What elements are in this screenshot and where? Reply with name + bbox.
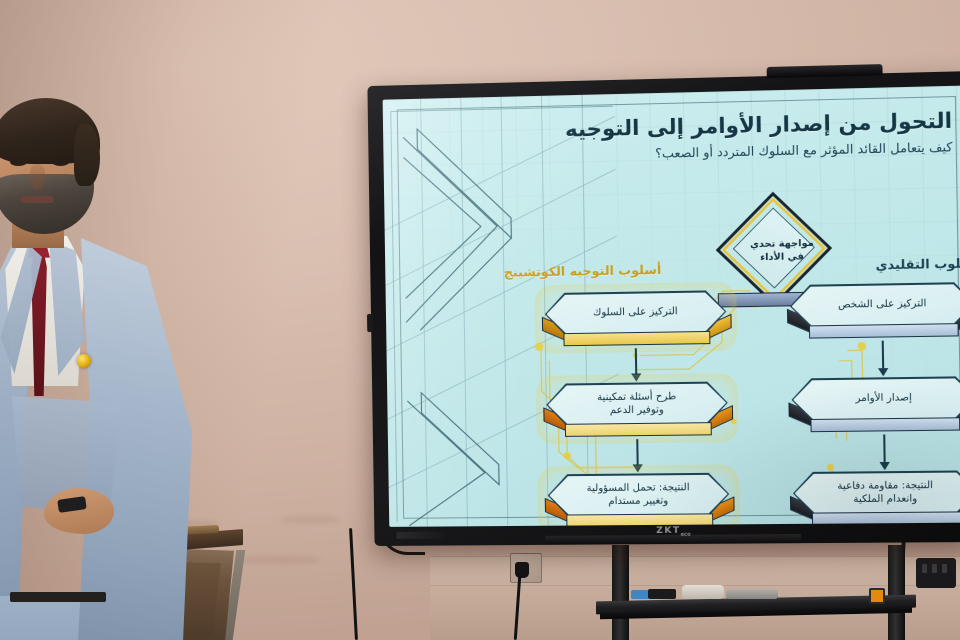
node-label: النتيجة: تحمل المسؤولية وتغيير مستدام: [560, 473, 718, 516]
node-label: التركيز على الشخص: [802, 282, 960, 326]
brand-suffix: eco: [681, 532, 691, 538]
brand-text: ZKT: [656, 526, 681, 536]
belt: [10, 592, 106, 602]
power-strip[interactable]: [916, 558, 956, 588]
power-socket[interactable]: [510, 553, 542, 583]
wall-mark: [280, 516, 340, 523]
interactive-display[interactable]: التحول من إصدار الأوامر إلى التوجيه كيف …: [367, 71, 960, 546]
slide-header: التحول من إصدار الأوامر إلى التوجيه كيف …: [480, 108, 952, 166]
node-label: النتيجة: مقاومة دفاعية وانعدام الملكية: [805, 470, 960, 513]
presentation-scene: التحول من إصدار الأوامر إلى التوجيه كيف …: [0, 0, 960, 640]
shelf-item-grey-object: [726, 589, 778, 599]
power-plug: [515, 562, 529, 578]
shelf-item-white-object: [682, 585, 724, 599]
wall-mark: [232, 556, 322, 564]
flow-node-coaching-1[interactable]: التركيز على السلوك: [545, 290, 727, 345]
hands: [44, 488, 114, 534]
node-label: طرح أسئلة تمكينية وتوفير الدعم: [558, 382, 716, 425]
stand-post-right: [888, 545, 905, 640]
node-label: التركيز على السلوك: [557, 290, 715, 334]
slide-canvas[interactable]: التحول من إصدار الأوامر إلى التوجيه كيف …: [383, 86, 960, 527]
display-side-button[interactable]: [367, 314, 373, 332]
branch-label-coaching: أسلوب التوجيه الكوتشينج: [504, 262, 662, 280]
presenter: [0, 96, 232, 640]
stand-post-left: [612, 545, 629, 640]
arrow-traditional-1-2: [882, 341, 885, 370]
flow-node-traditional-2[interactable]: إصدار الأوامر: [791, 376, 960, 431]
shelf-item-orange-box: [869, 588, 885, 604]
lapel-pin: [77, 354, 91, 368]
flow-node-traditional-3[interactable]: النتيجة: مقاومة دفاعية وانعدام الملكية: [793, 470, 960, 525]
node-label: إصدار الأوامر: [804, 376, 960, 420]
shelf-item-black-box: [648, 589, 676, 599]
nose: [30, 164, 45, 190]
flow-node-coaching-2[interactable]: طرح أسئلة تمكينية وتوفير الدعم: [546, 381, 728, 436]
flow-node-traditional-1[interactable]: التركيز على الشخص: [790, 282, 960, 338]
shelf-item-blue-box: [631, 590, 649, 599]
branch-label-traditional: الأسلوب التقليدي: [875, 255, 960, 272]
hair-side: [74, 124, 100, 186]
arrow-traditional-2-3: [883, 434, 886, 463]
flow-node-coaching-3[interactable]: النتيجة: تحمل المسؤولية وتغيير مستدام: [547, 473, 729, 527]
head: [0, 102, 86, 218]
mouth: [20, 196, 54, 203]
arrow-coaching-2-3: [636, 439, 638, 465]
arrow-coaching-1-2: [635, 348, 637, 374]
